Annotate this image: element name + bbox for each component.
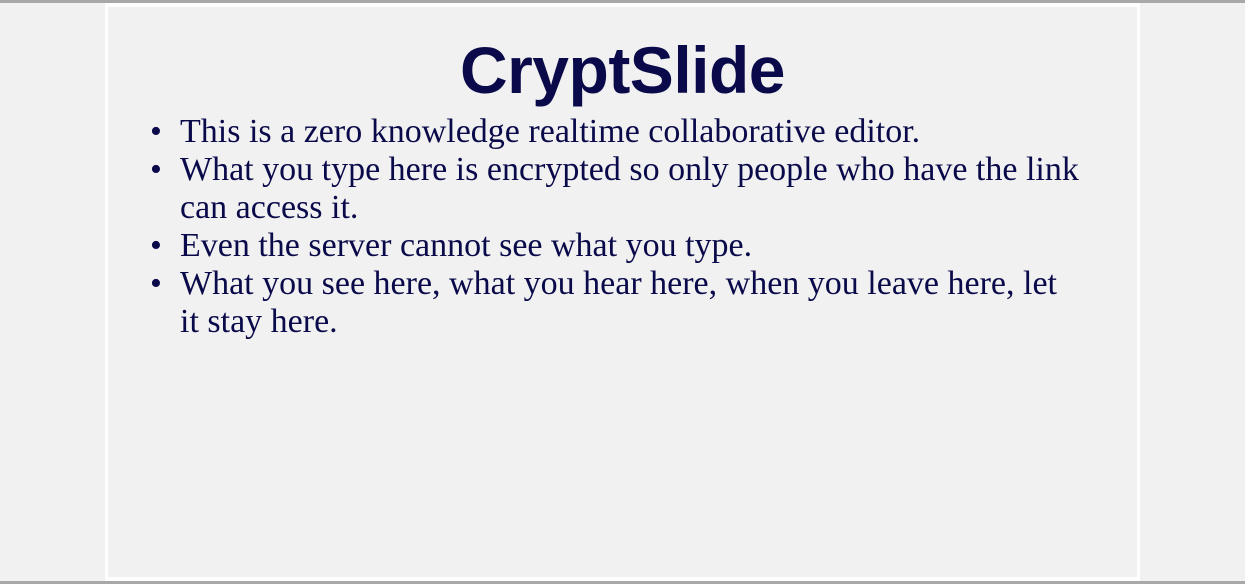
bullet-text: What you type here is encrypted so only … <box>180 151 1082 227</box>
bullet-text: This is a zero knowledge realtime collab… <box>180 113 1082 151</box>
list-item[interactable]: • What you type here is encrypted so onl… <box>108 151 1082 227</box>
list-item[interactable]: • Even the server cannot see what you ty… <box>108 227 1082 265</box>
list-item[interactable]: • What you see here, what you hear here,… <box>108 265 1082 341</box>
slide-bullet-list: • This is a zero knowledge realtime coll… <box>108 113 1137 341</box>
bullet-text: What you see here, what you hear here, w… <box>180 265 1082 341</box>
slide-title[interactable]: CryptSlide <box>108 7 1137 103</box>
bullet-icon: • <box>150 265 164 303</box>
slide-frame: CryptSlide • This is a zero knowledge re… <box>105 3 1140 581</box>
bullet-icon: • <box>150 113 164 151</box>
bullet-icon: • <box>150 227 164 265</box>
slide-canvas[interactable]: CryptSlide • This is a zero knowledge re… <box>108 7 1137 577</box>
bullet-text: Even the server cannot see what you type… <box>180 227 1082 265</box>
bullet-icon: • <box>150 151 164 189</box>
app-shell: CryptSlide • This is a zero knowledge re… <box>0 0 1245 584</box>
list-item[interactable]: • This is a zero knowledge realtime coll… <box>108 113 1082 151</box>
